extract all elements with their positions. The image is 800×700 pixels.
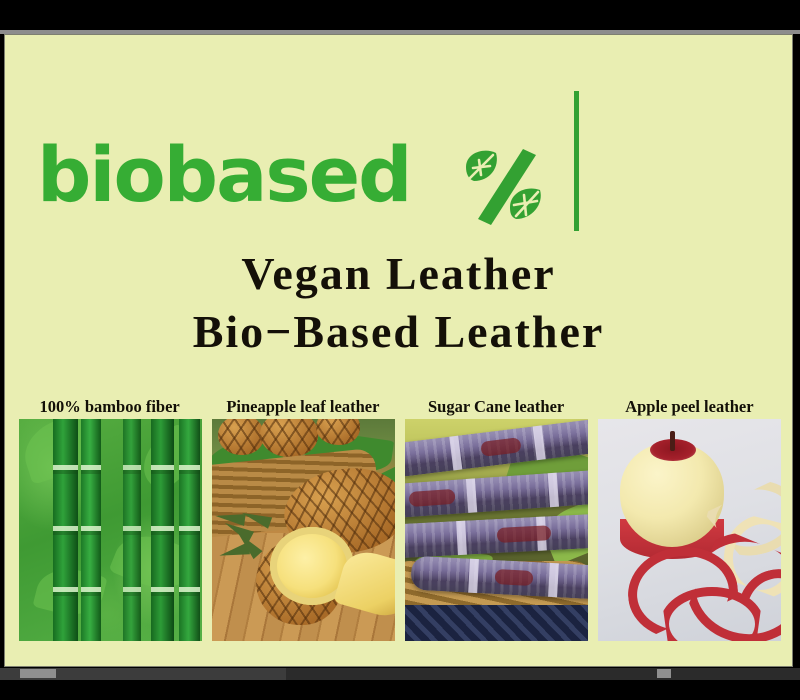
material-caption-bamboo: 100% bamboo fiber	[13, 397, 206, 417]
material-caption-pineapple: Pineapple leaf leather	[206, 397, 399, 417]
screenshot-root: biobased	[0, 0, 800, 700]
peeled-apple-with-peel-photo	[598, 419, 781, 641]
page-title: Vegan Leather Bio−Based Leather	[5, 245, 792, 361]
bamboo-stalks-photo	[19, 419, 202, 641]
scrollbar-thumb-left[interactable]	[20, 669, 56, 678]
material-caption-sugarcane: Sugar Cane leather	[400, 397, 593, 417]
brand-header: biobased	[5, 35, 792, 235]
brand-divider	[574, 91, 579, 231]
page-title-line-2: Bio−Based Leather	[5, 303, 792, 361]
window-chrome-top	[0, 0, 800, 30]
page-title-line-1: Vegan Leather	[5, 245, 792, 303]
window-chrome-bottom-fill	[0, 680, 800, 700]
pineapples-on-wood-photo	[212, 419, 395, 641]
leaf-percent-icon	[460, 145, 556, 229]
sugar-cane-in-basket-photo	[405, 419, 588, 641]
brand-wordmark: biobased	[37, 137, 411, 213]
material-caption-apple: Apple peel leather	[593, 397, 786, 417]
material-image-row	[19, 419, 781, 641]
material-captions: 100% bamboo fiber Pineapple leaf leather…	[13, 397, 786, 417]
scrollbar-thumb-right[interactable]	[657, 669, 671, 678]
document-page: biobased	[4, 34, 793, 667]
